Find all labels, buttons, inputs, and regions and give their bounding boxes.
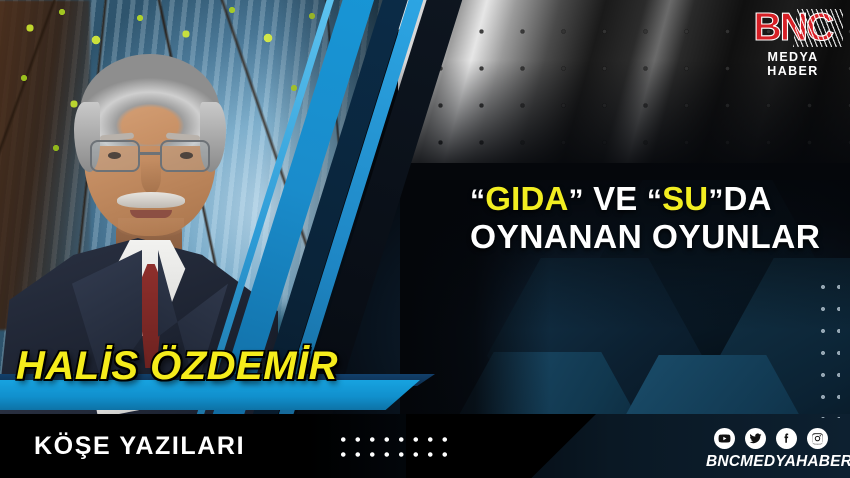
social-links <box>714 428 828 449</box>
bnc-logo[interactable]: BNC MEDYA HABER <box>741 8 845 70</box>
logo-tagline: MEDYA HABER <box>741 50 845 78</box>
author-name: HALİS ÖZDEMİR <box>16 344 338 389</box>
headline-keyword-gida: GIDA <box>485 180 568 217</box>
section-label: KÖŞE YAZILARI <box>34 432 245 461</box>
social-handle: BNCMEDYAHABER <box>706 453 850 471</box>
silver-panel-fade <box>398 60 850 180</box>
headline: “GIDA” VE “SU”DA OYNANAN OYUNLAR <box>470 180 842 258</box>
quote-open-2: “ <box>647 184 662 217</box>
instagram-icon[interactable] <box>807 428 828 449</box>
quote-close-2: ” <box>708 184 723 217</box>
quote-open-1: “ <box>470 184 485 217</box>
facebook-icon[interactable] <box>776 428 797 449</box>
logo-wordmark: BNC <box>741 8 845 47</box>
author-name-bar: HALİS ÖZDEMİR <box>0 352 448 414</box>
headline-connector: VE <box>584 180 647 217</box>
footer-dot-pattern <box>334 429 456 457</box>
headline-suffix: DA <box>724 180 772 217</box>
news-banner: “GIDA” VE “SU”DA OYNANAN OYUNLAR BNC MED… <box>0 0 850 478</box>
twitter-icon[interactable] <box>745 428 766 449</box>
quote-close-1: ” <box>569 184 584 217</box>
side-dot-pattern <box>812 272 840 418</box>
headline-line-2: OYNANAN OYUNLAR <box>470 219 842 258</box>
logo-wordmark-text: BNC <box>753 6 832 49</box>
youtube-icon[interactable] <box>714 428 735 449</box>
headline-line-1: “GIDA” VE “SU”DA <box>470 180 842 219</box>
headline-keyword-su: SU <box>662 180 708 217</box>
